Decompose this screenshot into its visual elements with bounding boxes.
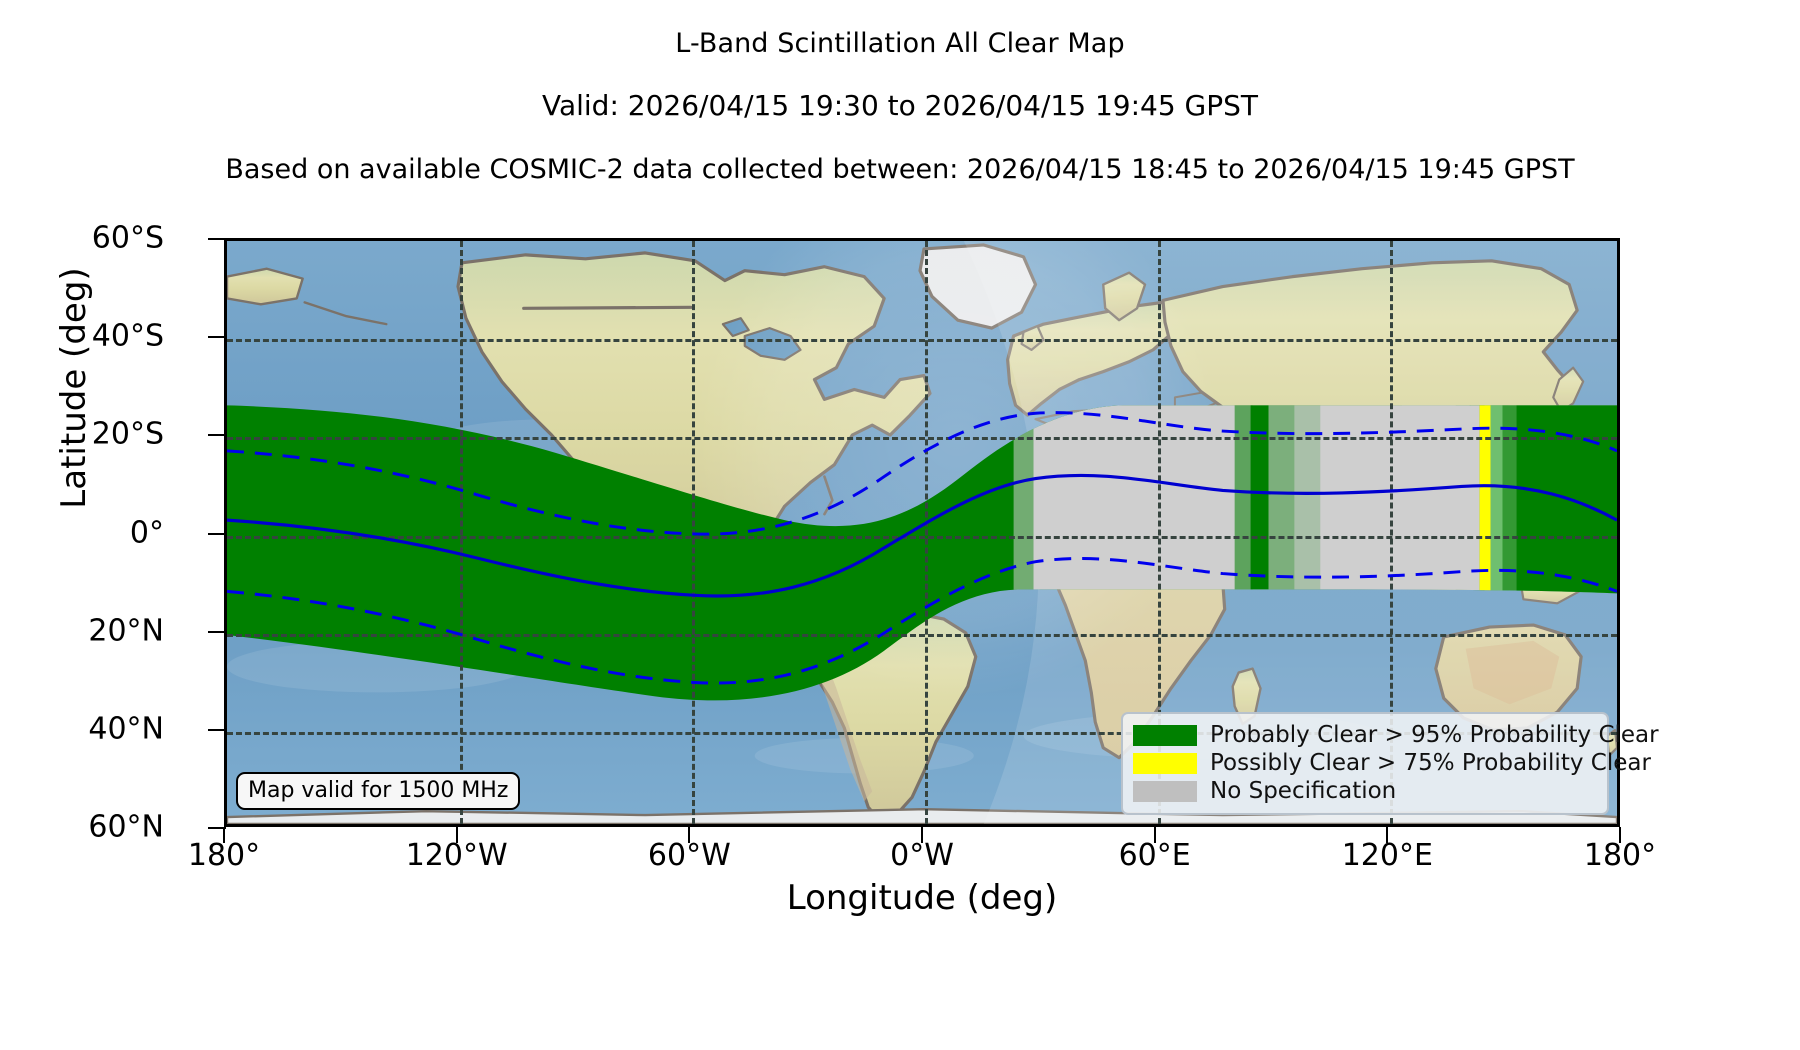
x-tick-mark	[456, 827, 458, 843]
x-axis-title: Longitude (deg)	[224, 878, 1620, 918]
x-tick-mark	[223, 827, 225, 843]
y-tick-label: 40°S	[0, 319, 180, 354]
x-tick-mark	[688, 827, 690, 843]
x-tick-label: 120°W	[337, 838, 577, 873]
y-tick-label: 0°	[0, 515, 180, 550]
y-tick-label: 40°N	[0, 711, 180, 746]
legend-item-label: Possibly Clear > 75% Probability Clear	[1210, 750, 1651, 776]
validity-subtitle: Valid: 2026/04/15 19:30 to 2026/04/15 19…	[0, 89, 1800, 122]
dip-line-south	[227, 559, 1617, 684]
legend-color-swatch	[1133, 753, 1197, 774]
x-tick-mark	[1619, 827, 1621, 843]
legend-item-label: No Specification	[1210, 778, 1396, 804]
x-tick-label: 180°	[1500, 838, 1740, 873]
legend-item: No Specification	[1133, 777, 1597, 805]
x-tick-label: 180°	[104, 838, 344, 873]
x-tick-label: 0°W	[802, 838, 1042, 873]
frequency-annotation-text: Map valid for 1500 MHz	[248, 778, 508, 803]
map-legend: Probably Clear > 95% Probability ClearPo…	[1121, 712, 1609, 815]
y-axis-title: Latitude (deg)	[54, 208, 94, 568]
magnetic-equator-line	[227, 475, 1617, 596]
legend-item-label: Probably Clear > 95% Probability Clear	[1210, 722, 1659, 748]
frequency-annotation: Map valid for 1500 MHz	[236, 772, 520, 810]
y-tick-label: 60°S	[0, 221, 180, 256]
x-tick-label: 60°E	[1035, 838, 1275, 873]
legend-item: Possibly Clear > 75% Probability Clear	[1133, 749, 1597, 777]
page-title: L-Band Scintillation All Clear Map	[0, 28, 1800, 59]
x-tick-label: 60°W	[569, 838, 809, 873]
figure-header: L-Band Scintillation All Clear Map Valid…	[0, 0, 1800, 185]
legend-item: Probably Clear > 95% Probability Clear	[1133, 721, 1597, 749]
y-tick-label: 20°S	[0, 417, 180, 452]
legend-color-swatch	[1133, 725, 1197, 746]
dip-line-north	[227, 413, 1617, 534]
legend-color-swatch	[1133, 781, 1197, 802]
x-tick-mark	[1386, 827, 1388, 843]
x-tick-mark	[921, 827, 923, 843]
data-basis-subtitle: Based on available COSMIC-2 data collect…	[0, 154, 1800, 185]
x-tick-mark	[1154, 827, 1156, 843]
y-tick-label: 20°N	[0, 613, 180, 648]
x-tick-label: 120°E	[1267, 838, 1507, 873]
